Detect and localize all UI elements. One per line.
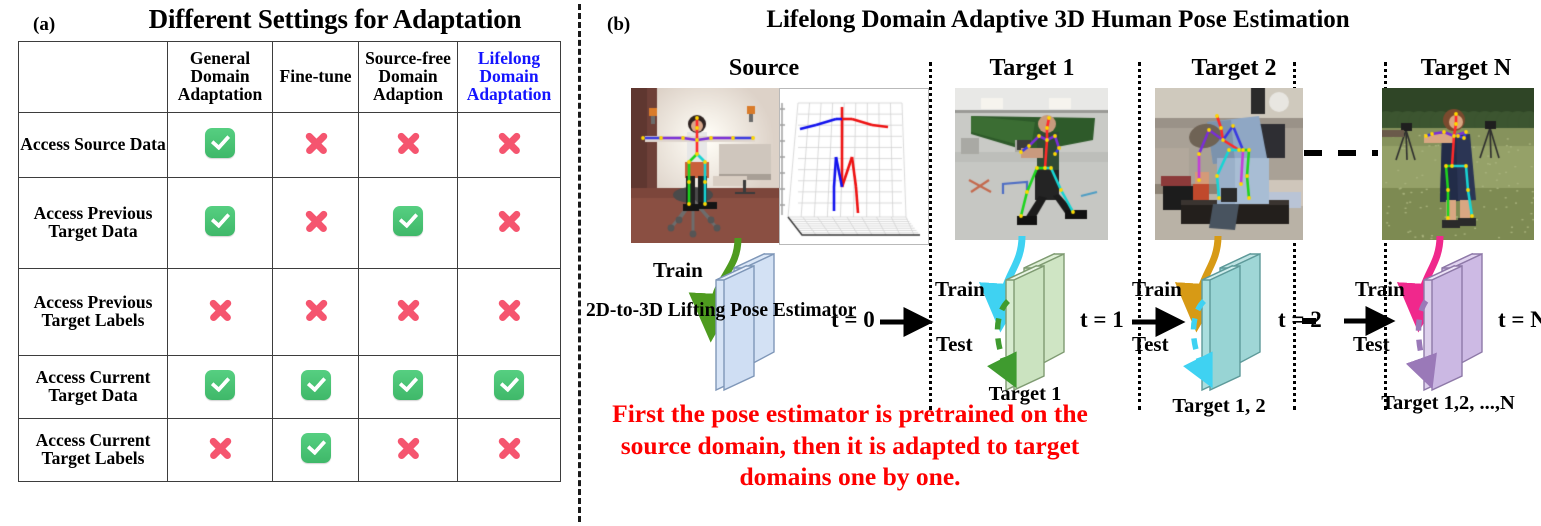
cell-r2-c4 [458,178,561,269]
cell-r3-c2 [273,269,359,356]
target-n-test-label: Test [1353,332,1390,357]
table-row: Access Source Data [19,113,561,178]
table-row: Access Previous Target Labels [19,269,561,356]
table-corner-cell [19,42,168,113]
target-n-photo [1382,88,1534,240]
source-estimator-label: 2D-to-3D Lifting Pose Estimator [586,300,708,322]
check-icon [301,433,331,463]
target-n-test-arrow [1396,295,1466,395]
column-header-1: General Domain Adaptation [168,42,273,113]
figure-root: (a) Different Settings for Adaptation Ge… [0,0,1541,526]
source-train-label: Train [653,258,703,283]
table-row: Access Current Target Labels [19,419,561,482]
cross-icon [494,206,524,236]
target-2-test-label: Test [1132,332,1169,357]
cell-r2-c1 [168,178,273,269]
row-label-2: Access Previous Target Data [19,178,168,269]
stage-separator-1 [929,62,932,410]
stage-title-target-n: Target N [1386,55,1541,82]
cell-r1-c1 [168,113,273,178]
target-2-test-arrow [1174,295,1244,395]
cell-r5-c4 [458,419,561,482]
table-row: Access Previous Target Data [19,178,561,269]
panel-a: (a) Different Settings for Adaptation Ge… [0,0,578,526]
cell-r4-c1 [168,356,273,419]
cross-icon [205,433,235,463]
target-2-photo [1155,88,1303,240]
source-3d-plot [779,88,929,245]
cross-icon [393,433,423,463]
stage-title-target-2: Target 2 [1154,55,1314,82]
stage-title-target-1: Target 1 [952,55,1112,82]
cross-icon [494,128,524,158]
cell-r3-c1 [168,269,273,356]
column-header-4: Lifelong Domain Adaptation [458,42,561,113]
cell-r5-c3 [359,419,458,482]
panel-b-title: Lifelong Domain Adaptive 3D Human Pose E… [618,6,1498,34]
stage-title-source: Source [674,55,854,82]
cross-icon [301,206,331,236]
cross-icon [393,295,423,325]
target-n-time-label: t = N [1498,307,1541,333]
cross-icon [301,295,331,325]
check-icon [301,370,331,400]
row-label-1: Access Source Data [19,113,168,178]
source-network-box [708,250,794,395]
cross-icon [494,433,524,463]
stage-separator-2 [1138,62,1141,410]
panel-a-title: Different Settings for Adaptation [100,4,570,35]
target-1-photo [955,88,1108,240]
cell-r4-c4 [458,356,561,419]
cell-r4-c3 [359,356,458,419]
target-1-test-arrow [978,295,1048,395]
cell-r3-c3 [359,269,458,356]
check-icon [205,370,235,400]
cell-r1-c3 [359,113,458,178]
cell-r1-c2 [273,113,359,178]
source-photo [631,88,779,243]
target-1-time-label: t = 1 [1080,307,1124,333]
cell-r2-c2 [273,178,359,269]
target-1-test-label: Test [936,332,973,357]
column-header-2: Fine-tune [273,42,359,113]
check-icon [393,370,423,400]
cross-icon [301,128,331,158]
target-n-output-label: Target 1,2, ...,N [1358,392,1538,415]
cell-r1-c4 [458,113,561,178]
cross-icon [205,295,235,325]
cross-icon [393,128,423,158]
cell-r4-c2 [273,356,359,419]
target-2-output-label: Target 1, 2 [1134,395,1304,418]
check-icon [393,206,423,236]
row-label-5: Access Current Target Labels [19,419,168,482]
source-time-label: t = 0 [831,307,875,333]
figure-caption: First the pose estimator is pretrained o… [586,398,1114,493]
panel-a-tag: (a) [33,14,55,36]
table-row: Access Current Target Data [19,356,561,419]
cell-r5-c1 [168,419,273,482]
row-label-4: Access Current Target Data [19,356,168,419]
column-header-3: Source-free Domain Adaption [359,42,458,113]
check-icon [205,206,235,236]
cell-r2-c3 [359,178,458,269]
settings-table: General Domain AdaptationFine-tuneSource… [18,41,561,482]
table-header-row: General Domain AdaptationFine-tuneSource… [19,42,561,113]
check-icon [494,370,524,400]
check-icon [205,128,235,158]
arrow-source-to-t1 [878,310,930,334]
omission-dashes-top [1298,145,1388,161]
cell-r3-c4 [458,269,561,356]
cell-r5-c2 [273,419,359,482]
cross-icon [494,295,524,325]
row-label-3: Access Previous Target Labels [19,269,168,356]
